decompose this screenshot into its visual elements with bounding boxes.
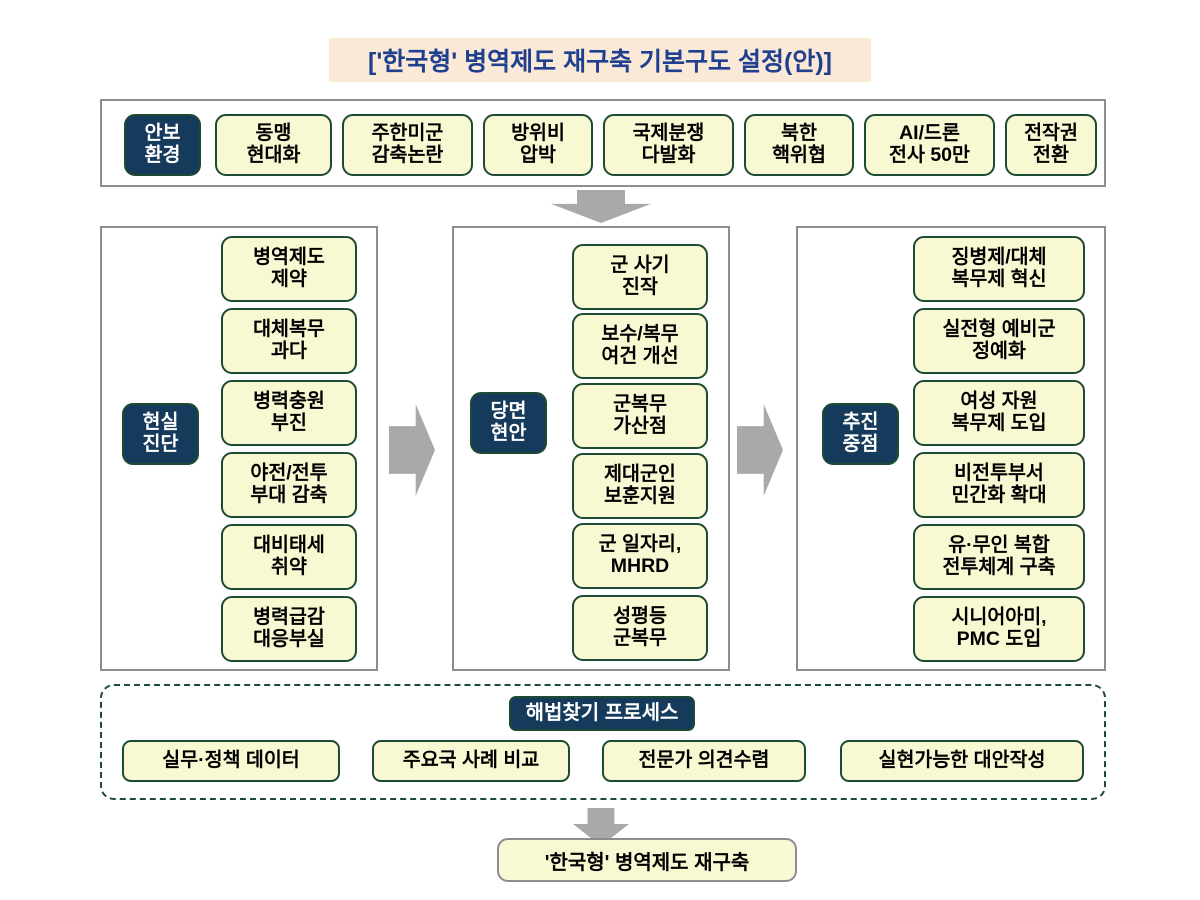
process-band-title: 해법찾기 프로세스 — [509, 696, 695, 731]
process-item-feasible-alternatives[interactable]: 실현가능한 대안작성 — [840, 740, 1084, 782]
list-item[interactable]: 제대군인 보훈지원 — [572, 453, 708, 519]
list-item[interactable]: 병역제도 제약 — [221, 236, 357, 302]
page-title: ['한국형' 병역제도 재구축 기본구도 설정(안)] — [368, 42, 832, 78]
top-band-item-defense-cost-pressure[interactable]: 방위비 압박 — [483, 114, 593, 176]
column-label-reality-diagnosis: 현실 진단 — [122, 403, 199, 465]
process-item-policy-data[interactable]: 실무·정책 데이터 — [122, 740, 340, 782]
process-item-country-comparison[interactable]: 주요국 사례 비교 — [372, 740, 570, 782]
list-item[interactable]: 보수/복무 여건 개선 — [572, 313, 708, 379]
final-outcome-box: '한국형' 병역제도 재구축 — [497, 838, 797, 882]
column-label-current-issues: 당면 현안 — [470, 392, 547, 454]
list-item[interactable]: 야전/전투 부대 감축 — [221, 452, 357, 518]
list-item[interactable]: 성평등 군복무 — [572, 595, 708, 661]
list-item[interactable]: 병력충원 부진 — [221, 380, 357, 446]
list-item[interactable]: 군복무 가산점 — [572, 383, 708, 449]
list-item[interactable]: 군 사기 진작 — [572, 244, 708, 310]
list-item[interactable]: 군 일자리, MHRD — [572, 523, 708, 589]
list-item[interactable]: 대비태세 취약 — [221, 524, 357, 590]
top-band-item-usfk-reduction[interactable]: 주한미군 감축논란 — [342, 114, 473, 176]
top-band-item-opcon-transfer[interactable]: 전작권 전환 — [1005, 114, 1097, 176]
list-item[interactable]: 병력급감 대응부실 — [221, 596, 357, 662]
column-label-promotion-priorities: 추진 중점 — [822, 403, 899, 465]
top-band-item-international-conflicts[interactable]: 국제분쟁 다발화 — [603, 114, 734, 176]
final-outcome-label: '한국형' 병역제도 재구축 — [545, 846, 750, 875]
top-band-item-alliance-modernization[interactable]: 동맹 현대화 — [215, 114, 332, 176]
top-band-item-ai-drone-warriors[interactable]: AI/드론 전사 50만 — [864, 114, 995, 176]
security-environment-band: 안보 환경 동맹 현대화 주한미군 감축논란 방위비 압박 국제분쟁 다발화 북… — [100, 99, 1106, 187]
band-label-security-environment: 안보 환경 — [124, 114, 201, 176]
right-arrow-icon-middle-to-right — [737, 404, 783, 496]
list-item[interactable]: 징병제/대체 복무제 혁신 — [913, 236, 1085, 302]
down-arrow-icon-top — [551, 190, 651, 223]
list-item[interactable]: 대체복무 과다 — [221, 308, 357, 374]
process-item-expert-opinions[interactable]: 전문가 의견수렴 — [602, 740, 806, 782]
page-title-banner: ['한국형' 병역제도 재구축 기본구도 설정(안)] — [329, 38, 871, 82]
list-item[interactable]: 유·무인 복합 전투체계 구축 — [913, 524, 1085, 590]
top-band-item-north-korea-nuclear-threat[interactable]: 북한 핵위협 — [744, 114, 854, 176]
list-item[interactable]: 비전투부서 민간화 확대 — [913, 452, 1085, 518]
list-item[interactable]: 실전형 예비군 정예화 — [913, 308, 1085, 374]
list-item[interactable]: 시니어아미, PMC 도입 — [913, 596, 1085, 662]
right-arrow-icon-left-to-middle — [389, 404, 435, 496]
list-item[interactable]: 여성 자원 복무제 도입 — [913, 380, 1085, 446]
